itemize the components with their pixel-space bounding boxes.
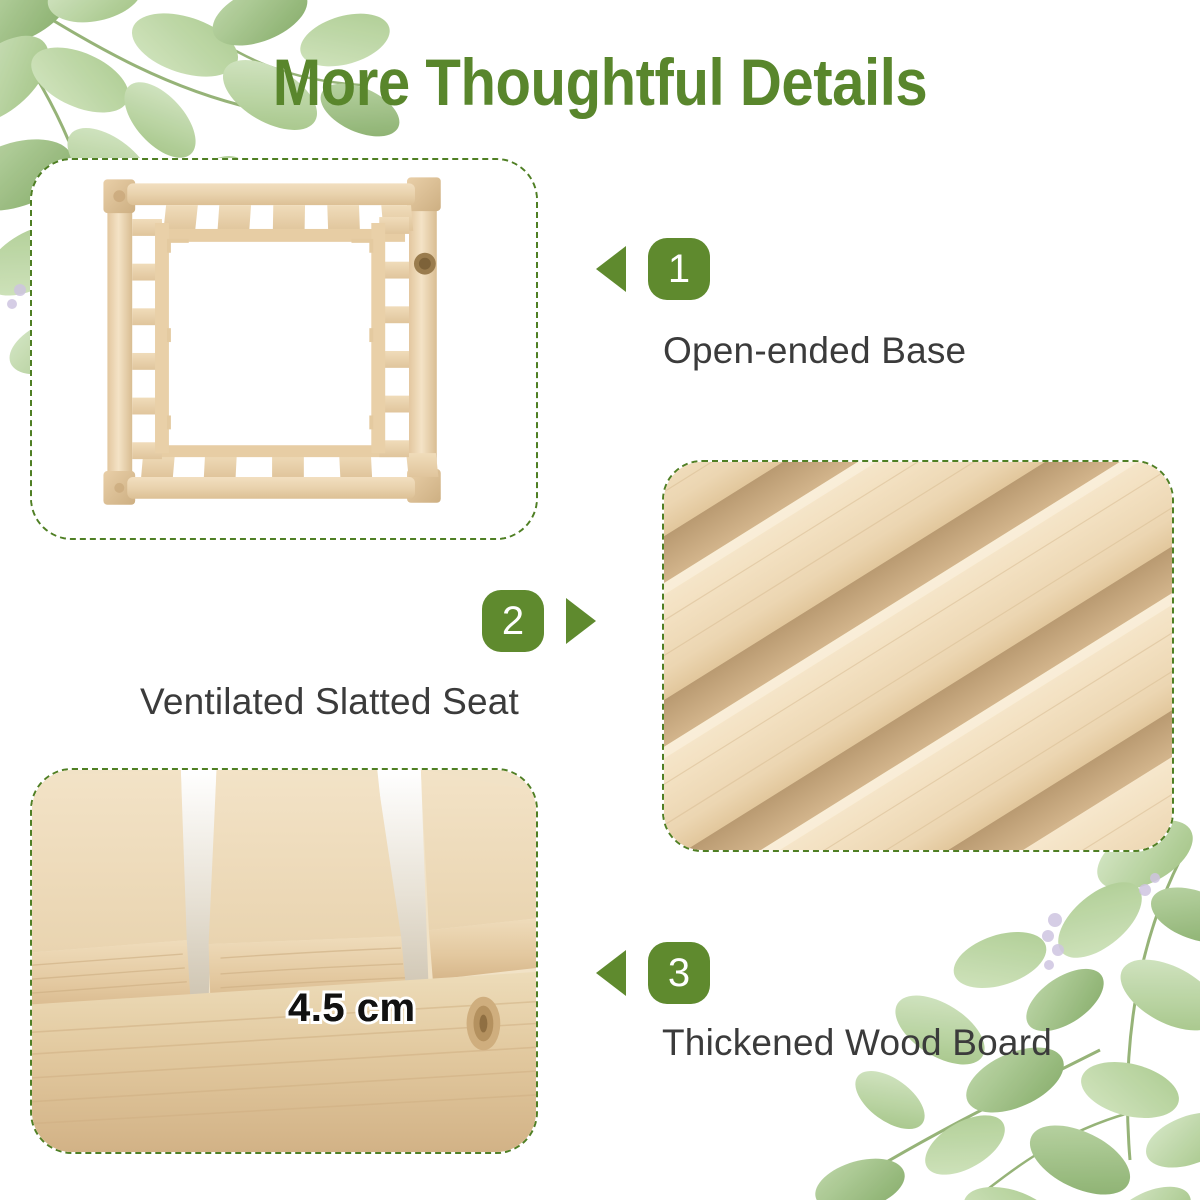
- open-ended-base-photo: [30, 158, 538, 540]
- triangle-left-icon: [596, 950, 626, 996]
- feature-marker-3: 3: [596, 942, 710, 1004]
- step-badge-2: 2: [482, 590, 544, 652]
- leaf-cluster-bottom-right-icon: [800, 800, 1200, 1200]
- triangle-left-icon: [596, 246, 626, 292]
- board-width-dimension: 4.5 cm: [288, 986, 416, 1031]
- thickened-wood-board-photo: [30, 768, 538, 1154]
- page-title: More Thoughtful Details: [72, 44, 1128, 120]
- infographic-canvas: More Thoughtful Details: [0, 0, 1200, 1200]
- step-badge-3: 3: [648, 942, 710, 1004]
- ventilated-slatted-seat-photo: [662, 460, 1174, 852]
- feature-marker-2: 2: [482, 590, 596, 652]
- feature-caption-3: Thickened Wood Board: [662, 1022, 1052, 1064]
- feature-caption-2: Ventilated Slatted Seat: [140, 681, 519, 723]
- feature-caption-1: Open-ended Base: [663, 330, 966, 372]
- feature-marker-1: 1: [596, 238, 710, 300]
- triangle-right-icon: [566, 598, 596, 644]
- step-badge-1: 1: [648, 238, 710, 300]
